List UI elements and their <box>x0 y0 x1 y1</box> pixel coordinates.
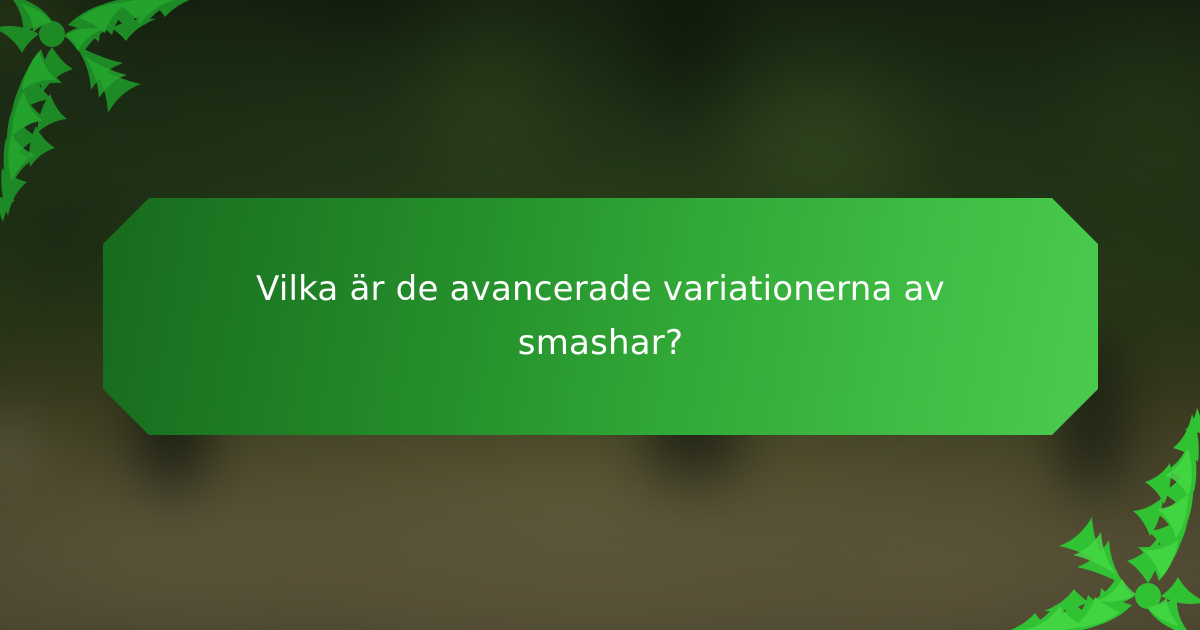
hero-card: Vilka är de avancerade variationerna av … <box>0 0 1200 630</box>
headline-banner: Vilka är de avancerade variationerna av … <box>103 198 1098 435</box>
headline-text: Vilka är de avancerade variationerna av … <box>191 263 1011 370</box>
